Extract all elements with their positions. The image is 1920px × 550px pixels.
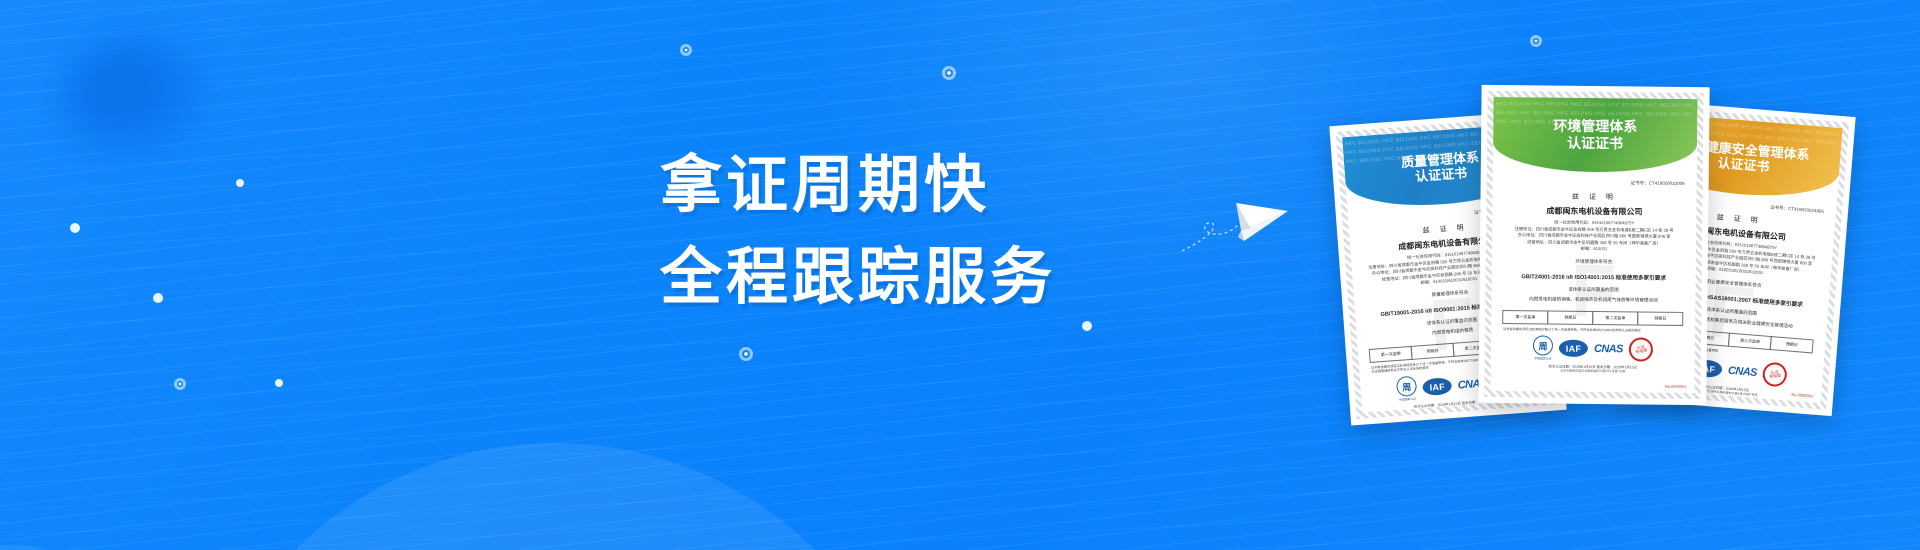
decorative-dot [942,66,956,80]
cnas-logo: CNAS [1594,343,1623,355]
audit-cell: 第一次监审 [1502,310,1548,324]
certificate-body: F 证书号：CT419020022006 兹 证 明 成都闽东电机设备有限公司 … [1491,171,1697,374]
scope-label: 该体系认证所覆盖的范围 [1504,286,1684,294]
company-name: 成都闽东电机设备有限公司 [1504,205,1684,218]
audit-cell: 第三次监审 [1728,332,1772,349]
headline-line-2: 全程跟踪服务 [660,232,1056,324]
certificate-footnote: 证书有效期内须经过标准规定每12个月一次监督审核，不符合标准GB/T24001标… [1503,327,1683,334]
paper-plane-icon [1180,185,1290,255]
decorative-dot [1530,35,1542,47]
cnca-logo: 周 [1533,336,1553,356]
issuer-address: 北京市朝阳区望京北路新建材大厦8号1号楼7号室 [1503,368,1683,374]
cnca-logo-label: 中国国家认证 [1533,357,1553,361]
decorative-dot [153,293,163,303]
background-glow-blob [62,36,212,161]
cnca-logo: 周 [1396,376,1417,397]
certificate-content: HKC BEIJING HKC BEIJING HKC BEIJING HKC … [1490,97,1697,393]
audit-table: 第一次监审 预期日 第二次监审 预期日 [1503,310,1683,326]
banner-headline: 拿证周期快 全程跟踪服务 [660,140,1056,324]
certificate-title-line-1: 环境管理体系 [1553,118,1637,135]
decorative-dot [739,347,753,361]
decorative-dot [174,378,186,390]
cnca-logo-label: 中国国家认证 [1398,397,1418,402]
decorative-dot [1082,321,1092,331]
seal-stamp: 认证专用章 [1761,361,1788,388]
standard-name: GB/T24001-2016 idt ISO14001:2015 标准使用多家引… [1504,272,1684,282]
certificate-number: No.0000001 [1665,384,1687,389]
cnca-logo-wrap: 周 中国国家认证 [1533,336,1553,361]
iaf-logo: IAF [1422,377,1452,396]
iaf-logo: IAF [1559,340,1588,357]
decorative-dot [236,179,244,187]
certify-label: 兹 证 明 [1504,191,1684,203]
decorative-dot [275,379,283,387]
background-arc-left [0,545,220,550]
audit-cell: 预期日 [1637,311,1683,325]
certificate-environment[interactable]: HKC BEIJING HKC BEIJING HKC BEIJING HKC … [1478,85,1709,405]
certificate-header: HKC BEIJING HKC BEIJING HKC BEIJING HKC … [1493,97,1698,173]
certificate-title-line-2: 认证证书 [1567,135,1623,152]
audit-cell: 预期日 [1770,336,1814,353]
promo-banner: 拿证周期快 全程跟踪服务 HKC BEIJING HKC BEIJING HKC… [0,0,1920,550]
headline-line-1: 拿证周期快 [660,151,990,220]
decorative-dot [680,44,692,56]
cnas-logo: CNAS [1728,365,1758,379]
audit-cell: 预期日 [1411,342,1455,359]
background-arc-main [185,443,925,550]
decorative-dot [70,223,80,233]
seal-stamp: 认证专用章 [1627,335,1655,363]
system-label: 环境管理体系符合 [1504,258,1684,266]
audit-cell: 第一次监审 [1369,345,1413,362]
scope-text: 内燃发电机组的销售、机房噪声及机组尾气排放等环境管理活动 [1503,296,1683,304]
cnca-logo-wrap: 周 中国国家认证 [1396,376,1418,402]
audit-cell: 预期日 [1547,310,1593,324]
certificate-logos: 周 中国国家认证 IAF CNAS 认证专用章 [1503,335,1683,362]
certificate-serial: 证书号：CT419020022006 [1505,179,1685,187]
audit-cell: 第二次监审 [1592,310,1638,324]
certificate-group: HKC BEIJING HKC BEIJING HKC BEIJING HKC … [1340,60,1920,480]
